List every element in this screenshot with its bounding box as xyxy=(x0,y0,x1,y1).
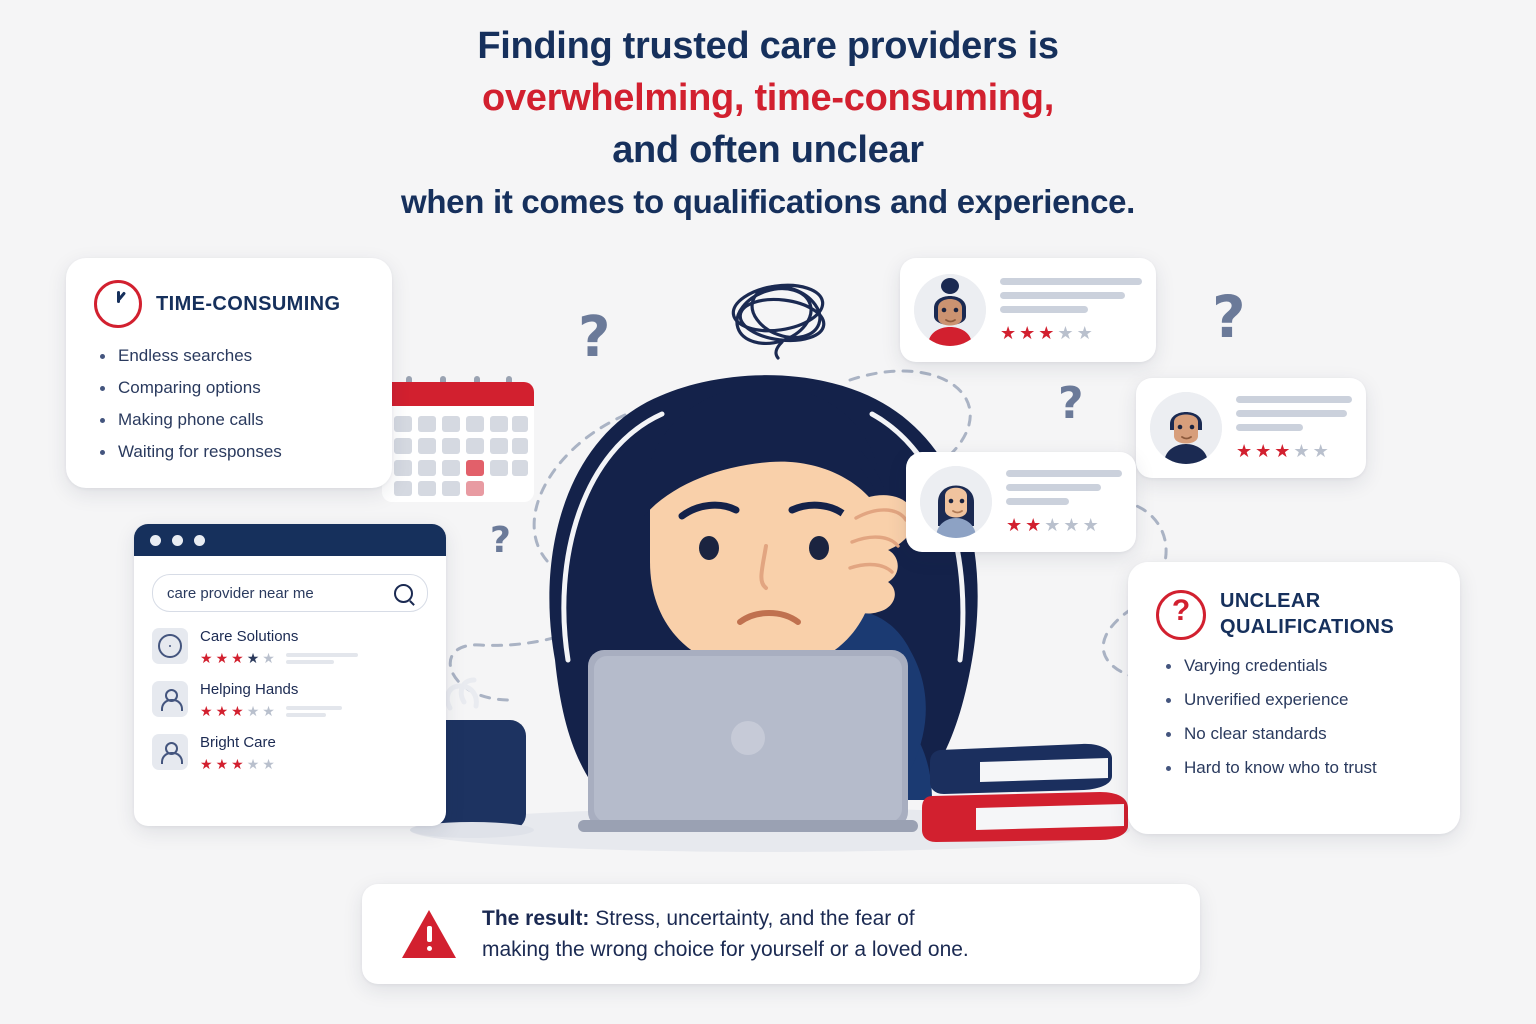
placeholder-line xyxy=(1006,484,1101,491)
time-consuming-bullets: Endless searches Comparing options Makin… xyxy=(66,328,392,464)
unclear-qualification-bullets: Varying credentials Unverified experienc… xyxy=(1128,640,1460,780)
list-item: Varying credentials xyxy=(1162,654,1460,678)
review-card[interactable]: ★★★★★ xyxy=(1136,378,1366,478)
laptop-icon xyxy=(578,650,918,832)
review-card[interactable]: ★★★★★ xyxy=(906,452,1136,552)
review-card[interactable]: ★★★★★ xyxy=(900,258,1156,362)
woman-long-hair-blue-top-avatar xyxy=(920,466,992,538)
placeholder-line xyxy=(1006,498,1069,505)
placeholder-line xyxy=(1236,424,1303,431)
card-title-line-1: UNCLEAR xyxy=(1220,590,1321,612)
rating-bars xyxy=(286,653,358,664)
rating-stars: ★★★★★ xyxy=(1000,324,1142,342)
result-text: The result: Stress, uncertainty, and the… xyxy=(482,903,969,965)
list-item: Waiting for responses xyxy=(96,440,392,464)
result-name: Helping Hands xyxy=(200,681,342,699)
rating-stars: ★★★★★ xyxy=(1236,442,1352,460)
list-item[interactable]: Care Solutions ★★★★★ xyxy=(152,628,428,665)
list-item: Making phone calls xyxy=(96,408,392,432)
list-item: Comparing options xyxy=(96,376,392,400)
placeholder-line xyxy=(1000,306,1088,313)
woman-bun-red-top-avatar xyxy=(914,274,986,346)
placeholder-line xyxy=(1000,292,1125,299)
rating-stars: ★★★★★ xyxy=(1006,516,1122,534)
person-icon xyxy=(152,734,188,770)
result-name: Bright Care xyxy=(200,734,276,752)
list-item[interactable]: Bright Care ★★★★★ xyxy=(152,734,428,771)
result-line-1: Stress, uncertainty, and the fear of xyxy=(589,907,914,930)
list-item: No clear standards xyxy=(1162,722,1460,746)
window-dot[interactable] xyxy=(172,535,183,546)
browser-title-bar xyxy=(134,524,446,556)
result-lead: The result: xyxy=(482,907,589,930)
rating-stars: ★★★★★ xyxy=(200,704,342,718)
window-dot[interactable] xyxy=(194,535,205,546)
headline-line-3: and often unclear xyxy=(0,124,1536,176)
list-item[interactable]: Helping Hands ★★★★★ xyxy=(152,681,428,718)
search-input[interactable]: care provider near me xyxy=(152,574,428,612)
list-item: Hard to know who to trust xyxy=(1162,756,1460,780)
man-navy-shirt-avatar xyxy=(1150,392,1222,464)
headline-line-4: when it comes to qualifications and expe… xyxy=(0,176,1536,228)
result-line-2: making the wrong choice for yourself or … xyxy=(482,938,969,961)
warning-triangle-icon xyxy=(402,910,456,958)
headline-line-2: overwhelming, time-consuming, xyxy=(0,72,1536,124)
window-dot[interactable] xyxy=(150,535,161,546)
card-header: TIME-CONSUMING xyxy=(66,258,392,328)
result-banner: The result: Stress, uncertainty, and the… xyxy=(362,884,1200,984)
page-title: Finding trusted care providers is overwh… xyxy=(0,20,1536,228)
clock-icon xyxy=(94,280,142,328)
rating-bars xyxy=(286,706,342,717)
circle-target-icon xyxy=(152,628,188,664)
result-name: Care Solutions xyxy=(200,628,358,646)
list-item: Unverified experience xyxy=(1162,688,1460,712)
search-query-text: care provider near me xyxy=(167,585,314,602)
time-consuming-card: TIME-CONSUMING Endless searches Comparin… xyxy=(66,258,392,488)
placeholder-line xyxy=(1006,470,1122,477)
unclear-qualifications-card: ? UNCLEAR QUALIFICATIONS Varying credent… xyxy=(1128,562,1460,834)
placeholder-line xyxy=(1000,278,1142,285)
infographic-canvas: Finding trusted care providers is overwh… xyxy=(0,0,1536,1024)
rating-stars: ★★★★★ xyxy=(200,651,358,665)
card-title-line-2: QUALIFICATIONS xyxy=(1220,616,1394,638)
search-icon[interactable] xyxy=(394,584,413,603)
card-header: ? UNCLEAR QUALIFICATIONS xyxy=(1128,562,1460,640)
headline-line-1: Finding trusted care providers is xyxy=(0,20,1536,72)
question-mark-icon: ? xyxy=(1156,590,1206,640)
placeholder-line xyxy=(1236,396,1352,403)
stacked-books-icon xyxy=(922,744,1128,842)
card-title: UNCLEAR QUALIFICATIONS xyxy=(1220,588,1394,640)
card-title: TIME-CONSUMING xyxy=(156,291,340,317)
rating-stars: ★★★★★ xyxy=(200,757,276,771)
person-icon xyxy=(152,681,188,717)
search-results-panel: care provider near me Care Solutions ★★★… xyxy=(134,524,446,826)
placeholder-line xyxy=(1236,410,1347,417)
list-item: Endless searches xyxy=(96,344,392,368)
